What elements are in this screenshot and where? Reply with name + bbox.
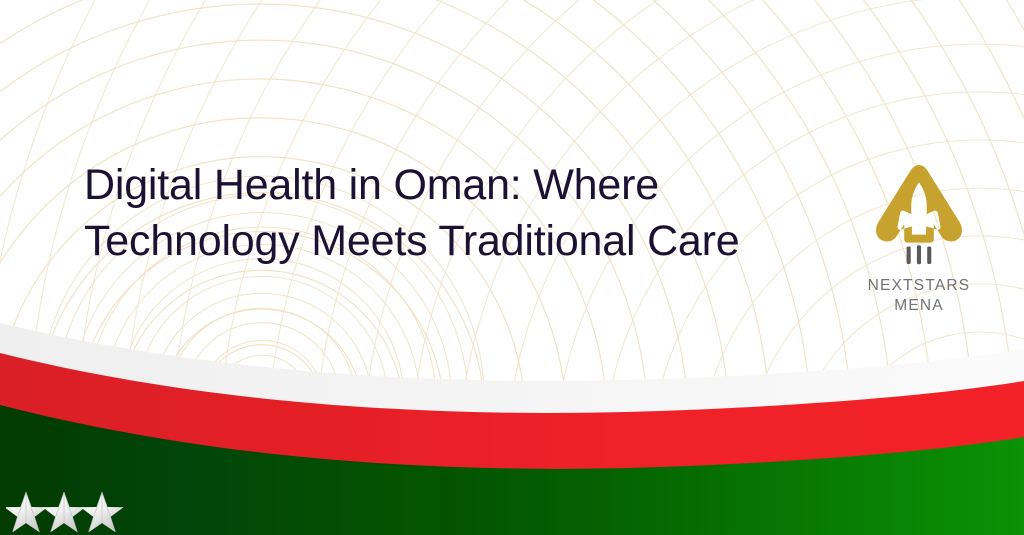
background-arc [161,309,362,412]
star-icon [43,492,86,532]
star-group [6,487,126,535]
star-icon [81,492,124,532]
star-facet [89,492,116,532]
brand-logo-lockup: NEXTSTARS MENA [854,160,984,317]
background-arc [120,270,403,416]
background-arc [248,388,276,403]
background-arc [152,293,372,405]
background-arc [200,340,324,404]
flag-band-red [0,353,1024,535]
background-arc [890,380,1024,473]
flag-band-white [0,323,1024,535]
background-arc [136,276,388,406]
background-arc [168,308,356,405]
background-arc [232,372,292,403]
logo-word-mena: MENA [854,296,984,316]
background-arc [120,259,404,407]
rocket-icon [873,160,965,266]
star-facet [51,492,78,532]
oman-flag-wave [0,305,1024,535]
background-arc [842,332,1024,475]
banner-canvas: Digital Health in Oman: Where Technology… [0,0,1024,535]
logo-word-nextstars: NEXTSTARS [854,276,984,296]
background-arc [202,345,322,409]
star-icon [6,492,48,532]
page-title: Digital Health in Oman: Where Technology… [84,158,744,270]
background-arc [184,323,340,405]
background-arc [216,355,308,403]
flag-band-green [0,405,1024,535]
star-facet [13,492,40,532]
flag-band-green-shadow [0,405,440,535]
